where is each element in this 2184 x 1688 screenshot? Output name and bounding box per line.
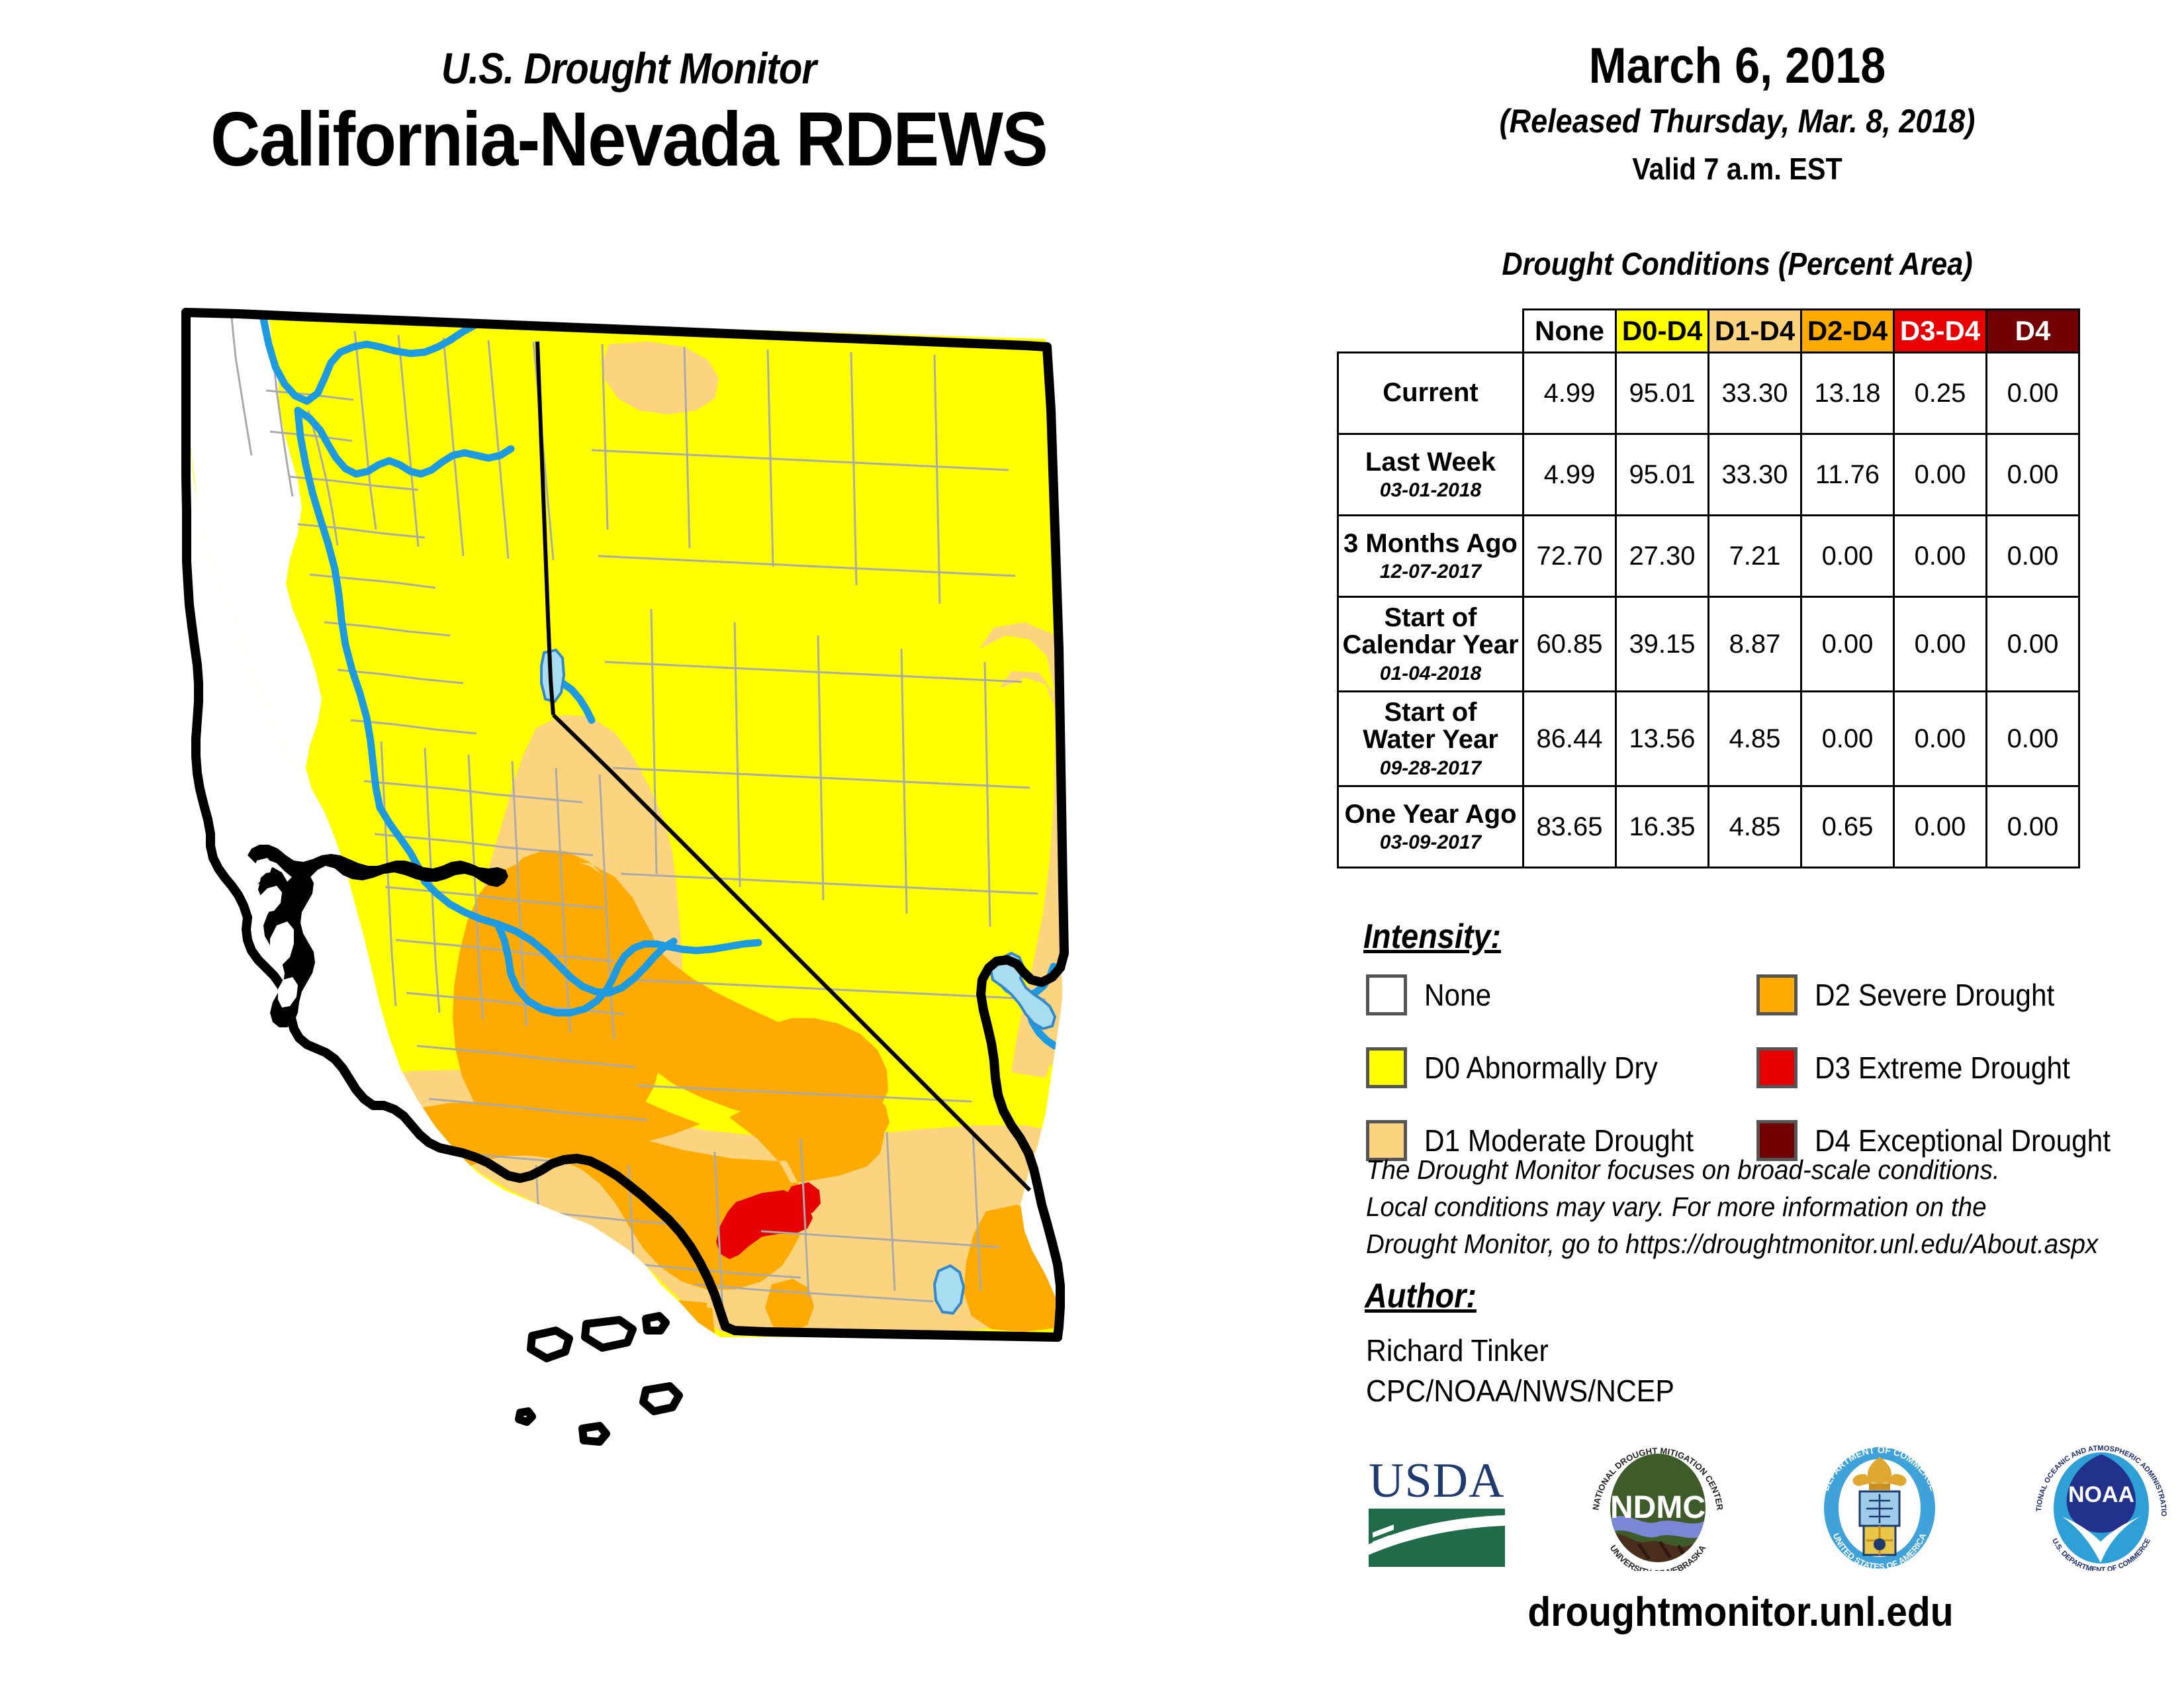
table-cell-d4: 0.00: [1987, 692, 2079, 786]
table-cell-none: 4.99: [1524, 434, 1616, 516]
legend-label: D2 Severe Drought: [1815, 977, 2054, 1013]
table-cell-d2-d4: 0.00: [1801, 597, 1894, 692]
table-cell-d3-d4: 0.25: [1894, 353, 1987, 434]
table-row: Current4.9995.0133.3013.180.250.00: [1338, 353, 2079, 434]
table-header-row: None D0-D4 D1-D4 D2-D4 D3-D4 D4: [1338, 310, 2079, 353]
intensity-heading: Intensity:: [1363, 917, 1501, 957]
row-label: Start ofWater Year09-28-2017: [1338, 692, 1524, 786]
table-cell-d1-d4: 4.85: [1709, 692, 1801, 786]
doc-logo: DEPARTMENT OF COMMERCE UNITED STATES OF …: [1800, 1445, 1959, 1574]
table-cell-d1-d4: 33.30: [1709, 434, 1801, 516]
table-cell-d2-d4: 0.65: [1801, 786, 1894, 868]
valid-time: Valid 7 a.m. EST: [1342, 151, 2134, 187]
drought-conditions-table: None D0-D4 D1-D4 D2-D4 D3-D4 D4 Current4…: [1337, 308, 2080, 868]
table-cell-d1-d4: 33.30: [1709, 353, 1801, 434]
row-label-line: Start of: [1342, 699, 1520, 727]
row-label: One Year Ago03-09-2017: [1338, 786, 1524, 868]
page-title: California-Nevada RDEWS: [63, 99, 1195, 180]
logo-row: USDA NDMC NATIONAL DROUGHT: [1363, 1443, 2184, 1575]
row-label-line: Calendar Year: [1342, 632, 1520, 659]
table-cell-d4: 0.00: [1987, 353, 2079, 434]
table-corner-cell: [1338, 310, 1524, 353]
legend-item: D2 Severe Drought: [1756, 968, 2160, 1022]
table-cell-d4: 0.00: [1987, 786, 2079, 868]
table-row: One Year Ago03-09-201783.6516.354.850.65…: [1338, 786, 2079, 868]
column-header-d2-d4: D2-D4: [1801, 310, 1894, 353]
right-header-block: March 6, 2018 (Released Thursday, Mar. 8…: [1297, 40, 2177, 187]
row-label-line: Water Year: [1342, 726, 1520, 754]
legend-swatch: [1366, 974, 1407, 1015]
row-label-line: Current: [1342, 379, 1520, 407]
legend-swatch: [1366, 1047, 1407, 1088]
table-cell-d3-d4: 0.00: [1894, 434, 1987, 516]
disclaimer-line-2: Local conditions may vary. For more info…: [1366, 1189, 2138, 1226]
row-label-date: 09-28-2017: [1342, 758, 1520, 778]
svg-text:USDA: USDA: [1369, 1454, 1504, 1508]
author-name: Richard Tinker: [1366, 1331, 1674, 1371]
table-cell-d0-d4: 27.30: [1616, 516, 1709, 597]
row-label-line: Start of: [1342, 604, 1520, 632]
map-channel-islands: [519, 1316, 679, 1470]
row-label-date: 01-04-2018: [1342, 663, 1520, 684]
table-cell-d3-d4: 0.00: [1894, 516, 1987, 597]
row-label: Start ofCalendar Year01-04-2018: [1338, 597, 1524, 692]
row-label-date: 03-01-2018: [1342, 480, 1520, 500]
legend-swatch: [1756, 974, 1797, 1015]
table-cell-d4: 0.00: [1987, 516, 2079, 597]
author-heading: Author:: [1365, 1276, 1477, 1316]
table-row: Start ofCalendar Year01-04-201860.8539.1…: [1338, 597, 2079, 692]
drought-monitor-supertitle: U.S. Drought Monitor: [75, 46, 1182, 90]
table-cell-none: 86.44: [1524, 692, 1616, 786]
left-header-block: U.S. Drought Monitor California-Nevada R…: [0, 46, 1257, 180]
row-label: Last Week03-01-2018: [1338, 434, 1524, 516]
row-label-line: 3 Months Ago: [1342, 530, 1520, 558]
legend-label: D3 Extreme Drought: [1815, 1050, 2070, 1086]
table-row: Last Week03-01-20184.9995.0133.3011.760.…: [1338, 434, 2079, 516]
table-cell-d3-d4: 0.00: [1894, 786, 1987, 868]
legend-item: D3 Extreme Drought: [1756, 1041, 2160, 1095]
table-cell-d0-d4: 16.35: [1616, 786, 1709, 868]
drought-map: [99, 278, 1284, 1470]
table-cell-d3-d4: 0.00: [1894, 597, 1987, 692]
row-label: Current: [1338, 353, 1524, 434]
table-cell-d2-d4: 13.18: [1801, 353, 1894, 434]
legend-item: D0 Abnormally Dry: [1366, 1041, 1756, 1095]
column-header-none: None: [1524, 310, 1616, 353]
legend-swatch: [1756, 1047, 1797, 1088]
row-label-date: 12-07-2017: [1342, 561, 1520, 582]
table-cell-d2-d4: 11.76: [1801, 434, 1894, 516]
column-header-d3-d4: D3-D4: [1894, 310, 1987, 353]
table-row: Start ofWater Year09-28-201786.4413.564.…: [1338, 692, 2079, 786]
valid-date: March 6, 2018: [1342, 40, 2134, 93]
legend-label: D0 Abnormally Dry: [1424, 1050, 1658, 1086]
noaa-logo: NOAA NATIONAL OCEANIC AND ATMOSPHERIC AD…: [2019, 1445, 2184, 1574]
table-cell-none: 72.70: [1524, 516, 1616, 597]
table-caption: Drought Conditions (Percent Area): [1342, 246, 2134, 283]
legend-item: None: [1366, 968, 1756, 1022]
table-cell-d0-d4: 13.56: [1616, 692, 1709, 786]
table-cell-d2-d4: 0.00: [1801, 516, 1894, 597]
table-row: 3 Months Ago12-07-201772.7027.307.210.00…: [1338, 516, 2079, 597]
intensity-legend: NoneD2 Severe DroughtD0 Abnormally DryD3…: [1366, 968, 2184, 1168]
legend-label: None: [1424, 977, 1491, 1013]
svg-text:NOAA: NOAA: [2068, 1482, 2134, 1507]
table-cell-d1-d4: 4.85: [1709, 786, 1801, 868]
row-label: 3 Months Ago12-07-2017: [1338, 516, 1524, 597]
table-cell-none: 60.85: [1524, 597, 1616, 692]
table-cell-d0-d4: 95.01: [1616, 353, 1709, 434]
table-cell-none: 4.99: [1524, 353, 1616, 434]
table-cell-d0-d4: 95.01: [1616, 434, 1709, 516]
table-cell-d0-d4: 39.15: [1616, 597, 1709, 692]
table-cell-none: 83.65: [1524, 786, 1616, 868]
row-label-line: One Year Ago: [1342, 801, 1520, 829]
column-header-d4: D4: [1987, 310, 2079, 353]
release-date: (Released Thursday, Mar. 8, 2018): [1342, 102, 2134, 140]
table-cell-d2-d4: 0.00: [1801, 692, 1894, 786]
author-block: Richard Tinker CPC/NOAA/NWS/NCEP: [1366, 1331, 1674, 1411]
author-affiliation: CPC/NOAA/NWS/NCEP: [1366, 1371, 1674, 1411]
usda-logo: USDA: [1363, 1445, 1516, 1574]
table-cell-d4: 0.00: [1987, 434, 2079, 516]
table-cell-d3-d4: 0.00: [1894, 692, 1987, 786]
table-cell-d1-d4: 7.21: [1709, 516, 1801, 597]
column-header-d1-d4: D1-D4: [1709, 310, 1801, 353]
table-cell-d1-d4: 8.87: [1709, 597, 1801, 692]
row-label-date: 03-09-2017: [1342, 832, 1520, 853]
disclaimer-line-1: The Drought Monitor focuses on broad-sca…: [1366, 1152, 2138, 1189]
table-cell-d4: 0.00: [1987, 597, 2079, 692]
column-header-d0-d4: D0-D4: [1616, 310, 1709, 353]
ndmc-logo: NDMC NATIONAL DROUGHT MITIGATION CENTER …: [1575, 1445, 1741, 1574]
row-label-line: Last Week: [1342, 449, 1520, 477]
disclaimer-text: The Drought Monitor focuses on broad-sca…: [1366, 1152, 2138, 1262]
svg-text:NDMC: NDMC: [1610, 1490, 1706, 1525]
site-url: droughtmonitor.unl.edu: [1333, 1589, 2149, 1636]
disclaimer-line-3: Drought Monitor, go to https://droughtmo…: [1366, 1226, 2138, 1263]
